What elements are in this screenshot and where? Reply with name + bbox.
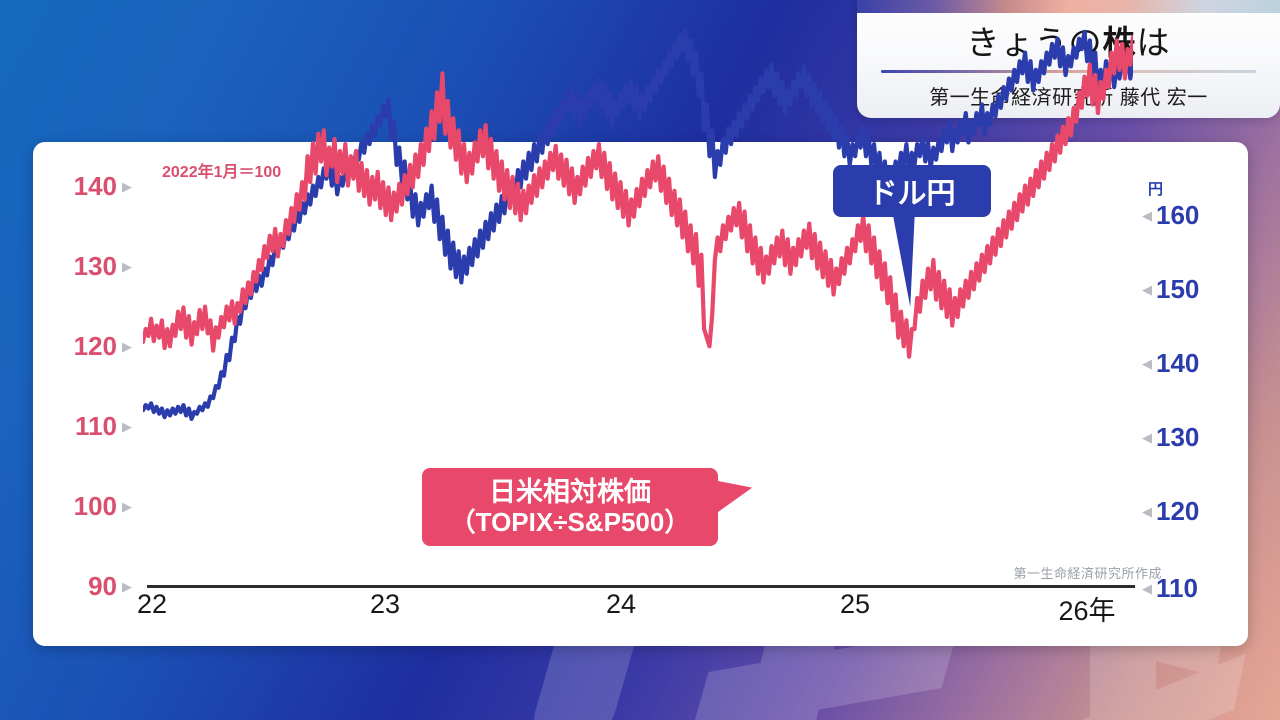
program-title-part2: は bbox=[1137, 16, 1171, 64]
series-svg bbox=[143, 18, 1133, 450]
relative-stock-callout-line1: 日米相対株価 bbox=[489, 477, 651, 507]
right-tick-value: 140 bbox=[1156, 350, 1199, 376]
left-tick-value: 140 bbox=[74, 173, 117, 199]
tick-arrow-icon: ◀ bbox=[1142, 283, 1152, 296]
tick-arrow-icon: ▶ bbox=[122, 420, 132, 433]
tick-arrow-icon: ▶ bbox=[122, 260, 132, 273]
right-tick-value: 110 bbox=[1156, 575, 1198, 601]
tick-arrow-icon: ◀ bbox=[1142, 582, 1152, 595]
left-tick-value: 130 bbox=[74, 253, 117, 279]
x-axis-tick-25: 25 bbox=[840, 589, 870, 620]
right-tick-value: 160 bbox=[1156, 202, 1199, 228]
tick-arrow-icon: ◀ bbox=[1142, 209, 1152, 222]
right-axis-unit-label: 円 bbox=[1148, 178, 1163, 199]
dollar-yen-callout-label: ドル円 bbox=[868, 170, 955, 212]
right-tick-value: 130 bbox=[1156, 424, 1199, 450]
x-axis-tick-26: 26年 bbox=[1058, 589, 1115, 628]
relative-stock-callout: 日米相対株価 （TOPIX÷S&P500） bbox=[422, 468, 718, 546]
tick-arrow-icon: ▶ bbox=[122, 340, 132, 353]
x-axis-line bbox=[147, 585, 1135, 588]
left-tick-value: 120 bbox=[74, 333, 117, 359]
left-tick-value: 90 bbox=[88, 573, 117, 599]
x-axis-tick-23: 23 bbox=[370, 589, 400, 620]
tick-arrow-icon: ◀ bbox=[1142, 505, 1152, 518]
right-tick-value: 120 bbox=[1156, 498, 1199, 524]
tick-arrow-icon: ▶ bbox=[122, 580, 132, 593]
banner-gradient-strip bbox=[857, 0, 1280, 13]
left-tick-value: 110 bbox=[75, 413, 117, 439]
screen: きょうの 株は 第一生命経済研究所 藤代 宏一 2022年1月＝100 円 第一… bbox=[0, 0, 1280, 720]
right-tick-value: 150 bbox=[1156, 276, 1199, 302]
tick-arrow-icon: ◀ bbox=[1142, 357, 1152, 370]
dollar-yen-callout: ドル円 bbox=[833, 165, 991, 217]
x-axis-tick-22: 22 bbox=[137, 589, 167, 620]
relative-stock-callout-line2: （TOPIX÷S&P500） bbox=[450, 508, 691, 537]
tick-arrow-icon: ◀ bbox=[1142, 431, 1152, 444]
left-tick-value: 100 bbox=[74, 493, 117, 519]
tick-arrow-icon: ▶ bbox=[122, 180, 132, 193]
tick-arrow-icon: ▶ bbox=[122, 500, 132, 513]
chart-credit: 第一生命経済研究所作成 bbox=[1013, 563, 1162, 582]
chart-plot-area bbox=[143, 18, 1133, 450]
x-axis-tick-24: 24 bbox=[606, 589, 636, 620]
